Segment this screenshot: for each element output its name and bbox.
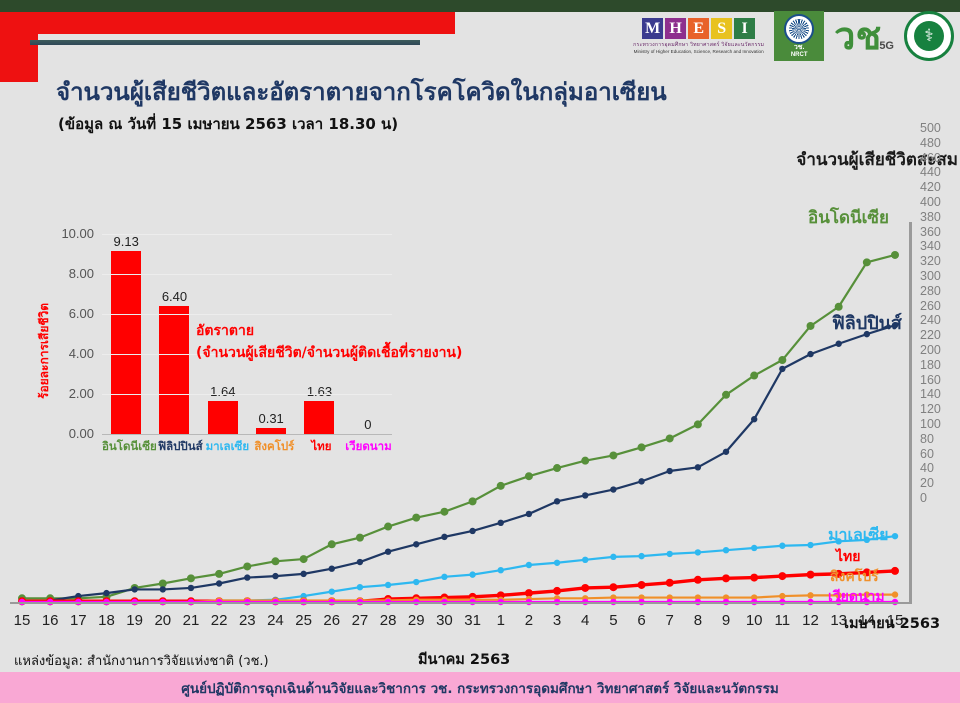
line-data-point <box>385 548 391 554</box>
line-data-point <box>778 356 786 364</box>
moph-emblem-icon: ⚕ <box>914 21 944 51</box>
line-data-point <box>666 579 674 587</box>
line-chart-y-tick: 140 <box>920 389 941 400</box>
vor-5g-label: 5G <box>879 40 894 52</box>
line-chart-x-tick: 31 <box>464 612 481 629</box>
series-label-vietnam: เวียดนาม <box>828 586 885 608</box>
line-chart-y-tick: 480 <box>920 138 941 149</box>
line-data-point <box>751 416 757 422</box>
line-data-point <box>638 478 644 484</box>
line-data-point <box>160 586 166 592</box>
line-data-point <box>384 523 392 531</box>
line-data-point <box>441 534 447 540</box>
line-data-point <box>525 472 533 480</box>
line-chart-x-tick: 7 <box>666 612 674 629</box>
mhesi-letter-h: H <box>665 18 686 39</box>
x-axis-month-april: เมษายน 2563 <box>844 612 940 635</box>
line-data-point <box>413 541 419 547</box>
line-chart-x-tick: 6 <box>637 612 645 629</box>
nrct-thai-label: วช. <box>794 44 805 52</box>
footer-bar: ศูนย์ปฏิบัติการฉุกเฉินด้านวิจัยและวิชากา… <box>0 672 960 703</box>
mhesi-letters: M H E S I <box>642 18 755 39</box>
line-data-point <box>385 582 391 588</box>
mhesi-letter-e: E <box>688 18 709 39</box>
line-chart-y-tick: 340 <box>920 241 941 252</box>
line-data-point <box>215 570 223 578</box>
line-data-point <box>779 593 785 599</box>
line-chart-x-tick: 27 <box>352 612 369 629</box>
line-data-point <box>751 545 757 551</box>
line-data-point <box>526 511 532 517</box>
page-subtitle: (ข้อมูล ณ วันที่ 15 เมษายน 2563 เวลา 18.… <box>58 112 398 136</box>
line-data-point <box>440 508 448 516</box>
line-data-point <box>412 514 420 522</box>
line-data-point <box>188 585 194 591</box>
line-data-point <box>891 567 899 575</box>
line-data-point <box>244 574 250 580</box>
nrct-logo: วช. NRCT <box>774 11 824 61</box>
line-data-point <box>271 557 279 565</box>
line-data-point <box>216 580 222 586</box>
line-data-point <box>778 572 786 580</box>
line-chart-y-tick: 40 <box>920 463 934 474</box>
line-data-point <box>498 520 504 526</box>
line-data-point <box>779 366 785 372</box>
line-data-point <box>666 434 674 442</box>
line-data-point <box>131 586 137 592</box>
line-chart-y-tick: 100 <box>920 419 941 430</box>
line-chart-y-tick: 420 <box>920 182 941 193</box>
line-chart-x-tick: 10 <box>746 612 763 629</box>
line-data-point <box>667 551 673 557</box>
moph-logo: ⚕ <box>904 11 954 61</box>
line-data-point <box>694 420 702 428</box>
mhesi-english-name: Ministry of Higher Education, Science, R… <box>634 49 764 54</box>
line-chart-y-tick: 20 <box>920 478 934 489</box>
line-data-point <box>892 591 898 597</box>
line-data-point <box>694 576 702 584</box>
line-data-point <box>526 562 532 568</box>
line-chart-y-tick: 440 <box>920 167 941 178</box>
page-title: จำนวนผู้เสียชีวิตและอัตราตายจากโรคโควิดใ… <box>56 72 667 111</box>
line-data-point <box>328 540 336 548</box>
vor-glyph-icon: วช <box>834 20 881 52</box>
line-data-point <box>807 542 813 548</box>
line-chart-y-axis-line <box>909 222 912 604</box>
line-chart-y-tick: 160 <box>920 375 941 386</box>
line-data-point <box>807 351 813 357</box>
line-chart-y-tick: 280 <box>920 286 941 297</box>
line-chart-x-tick: 1 <box>497 612 505 629</box>
line-data-point <box>723 449 729 455</box>
line-data-point <box>723 547 729 553</box>
line-chart-y-tick: 460 <box>920 153 941 164</box>
series-label-malaysia: มาเลเซีย <box>828 523 889 548</box>
line-data-point <box>779 543 785 549</box>
line-chart-x-tick: 25 <box>295 612 312 629</box>
line-chart-x-tick: 3 <box>553 612 561 629</box>
line-chart-y-tick: 180 <box>920 360 941 371</box>
line-data-point <box>103 590 109 596</box>
line-data-point <box>610 554 616 560</box>
line-chart-x-tick: 17 <box>70 612 87 629</box>
line-data-point <box>638 581 646 589</box>
line-chart-x-tick: 12 <box>802 612 819 629</box>
line-chart-y-tick: 300 <box>920 271 941 282</box>
line-data-point <box>807 592 813 598</box>
line-data-point <box>329 588 335 594</box>
line-data-point <box>582 492 588 498</box>
line-chart-baseline <box>10 602 910 604</box>
line-data-point <box>863 258 871 266</box>
footer-text: ศูนย์ปฏิบัติการฉุกเฉินด้านวิจัยและวิชากา… <box>181 677 778 699</box>
line-data-point <box>357 559 363 565</box>
title-rule <box>30 40 420 45</box>
line-data-point <box>553 587 561 595</box>
top-red-band <box>0 12 455 34</box>
line-data-point <box>891 251 899 259</box>
line-data-point <box>638 553 644 559</box>
line-data-point <box>441 574 447 580</box>
line-data-point <box>667 468 673 474</box>
line-data-point <box>609 451 617 459</box>
line-chart-x-tick: 23 <box>239 612 256 629</box>
line-data-point <box>807 322 815 330</box>
line-chart-x-tick: 18 <box>98 612 115 629</box>
line-chart-x-tick: 30 <box>436 612 453 629</box>
line-data-point <box>695 549 701 555</box>
line-chart-x-labels: 1516171819202122232425262728293031123456… <box>0 612 960 634</box>
line-data-point <box>581 457 589 465</box>
line-data-point <box>469 571 475 577</box>
line-data-point <box>469 528 475 534</box>
line-chart-x-tick: 11 <box>775 612 791 629</box>
series-label-thailand: ไทย <box>836 546 860 568</box>
line-chart-x-tick: 28 <box>380 612 397 629</box>
line-data-point <box>357 584 363 590</box>
line-data-point <box>807 571 815 579</box>
series-label-indonesia: อินโดนีเซีย <box>808 204 889 231</box>
line-data-point <box>750 574 758 582</box>
line-chart-x-tick: 15 <box>14 612 31 629</box>
line-chart-y-tick: 200 <box>920 345 941 356</box>
nrct-emblem-icon <box>784 14 814 44</box>
line-data-point <box>581 584 589 592</box>
line-chart-y-tick: 380 <box>920 212 941 223</box>
line-data-point <box>582 557 588 563</box>
mhesi-letter-m: M <box>642 18 663 39</box>
line-data-point <box>498 567 504 573</box>
line-series-อินโดนีเซีย <box>18 251 899 602</box>
line-data-point <box>329 566 335 572</box>
line-data-point <box>722 391 730 399</box>
line-chart-y-tick: 320 <box>920 256 941 267</box>
nrct-abbr-label: NRCT <box>791 52 808 59</box>
line-chart-x-tick: 5 <box>609 612 617 629</box>
mhesi-letter-s: S <box>711 18 732 39</box>
mhesi-letter-i: I <box>734 18 755 39</box>
line-data-point <box>413 579 419 585</box>
line-chart-y-tick: 400 <box>920 197 941 208</box>
mhesi-thai-name: กระทรวงการอุดมศึกษา วิทยาศาสตร์ วิจัยและ… <box>633 41 764 49</box>
line-chart-x-tick: 21 <box>183 612 200 629</box>
line-chart-x-tick: 8 <box>694 612 702 629</box>
line-data-point <box>750 372 758 380</box>
line-chart-x-tick: 26 <box>323 612 340 629</box>
line-chart-x-tick: 4 <box>581 612 589 629</box>
line-data-point <box>835 341 841 347</box>
line-data-point <box>497 482 505 490</box>
x-axis-month-march: มีนาคม 2563 <box>418 648 510 671</box>
line-data-point <box>695 464 701 470</box>
line-data-point <box>469 497 477 505</box>
line-data-point <box>554 498 560 504</box>
line-data-point <box>610 486 616 492</box>
line-chart-y-tick: 260 <box>920 301 941 312</box>
line-data-point <box>356 534 364 542</box>
line-data-point <box>187 574 195 582</box>
mhesi-logo: M H E S I กระทรวงการอุดมศึกษา วิทยาศาสตร… <box>633 18 764 54</box>
line-chart-y-tick: 60 <box>920 449 934 460</box>
line-data-point <box>300 555 308 563</box>
line-data-point <box>554 560 560 566</box>
line-chart-y-tick: 120 <box>920 404 941 415</box>
line-data-point <box>609 583 617 591</box>
vor-5g-logo: วช 5G <box>834 20 894 52</box>
line-data-point <box>892 533 898 539</box>
line-series-มาเลเซีย <box>19 533 898 605</box>
cumulative-deaths-line-chart: 0204060801001201401601802002202402602803… <box>0 160 960 610</box>
series-label-philippines: ฟิลิปปินส์ <box>832 308 902 337</box>
line-data-point <box>272 573 278 579</box>
line-chart-y-tick: 0 <box>920 493 927 504</box>
line-data-point <box>722 574 730 582</box>
line-chart-x-tick: 16 <box>42 612 59 629</box>
line-chart-x-tick: 29 <box>408 612 425 629</box>
line-chart-x-tick: 2 <box>525 612 533 629</box>
line-chart-x-tick: 22 <box>211 612 228 629</box>
line-chart-y-ticks: 0204060801001201401601802002202402602803… <box>914 216 956 608</box>
line-chart-y-tick: 80 <box>920 434 934 445</box>
line-data-point <box>243 562 251 570</box>
logo-bar: M H E S I กระทรวงการอุดมศึกษา วิทยาศาสตร… <box>633 8 954 64</box>
line-data-point <box>638 443 646 451</box>
line-data-point <box>300 571 306 577</box>
line-data-point <box>553 464 561 472</box>
line-chart-y-tick: 500 <box>920 123 941 134</box>
line-chart-y-tick: 220 <box>920 330 941 341</box>
series-label-singapore: สิงคโปร์ <box>830 566 879 588</box>
line-chart-y-tick: 240 <box>920 315 941 326</box>
line-series-ฟิลิปปินส์ <box>19 322 898 604</box>
line-chart-x-tick: 9 <box>722 612 730 629</box>
line-chart-x-tick: 24 <box>267 612 284 629</box>
line-chart-x-tick: 20 <box>154 612 171 629</box>
data-source-note: แหล่งข้อมูล: สำนักงานการวิจัยแห่งชาติ (ว… <box>14 650 269 671</box>
line-chart-y-tick: 360 <box>920 227 941 238</box>
line-chart-x-tick: 19 <box>126 612 143 629</box>
